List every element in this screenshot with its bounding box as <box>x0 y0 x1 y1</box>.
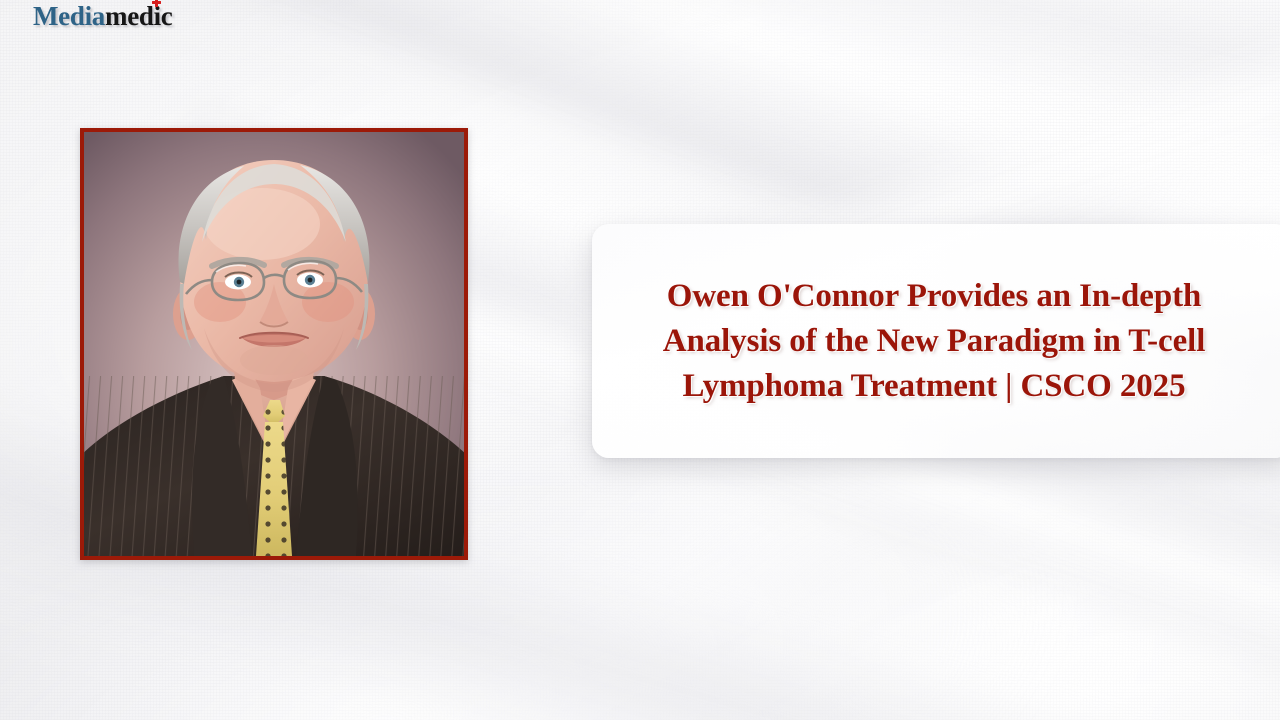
title-line-1: Owen O'Connor Provides an In-depth <box>614 274 1254 319</box>
brand-logo-medic-text: medic <box>105 1 172 31</box>
title-line-2: Analysis of the New Paradigm in T-cell <box>614 319 1254 364</box>
slide-canvas: Mediamedic <box>0 0 1280 720</box>
speaker-portrait-photo <box>80 128 468 560</box>
brand-logo-media-text: Media <box>33 1 105 31</box>
title-line-3: Lymphoma Treatment | CSCO 2025 <box>614 364 1254 409</box>
red-medical-cross-icon <box>152 0 161 7</box>
brand-logo[interactable]: Mediamedic <box>33 1 172 32</box>
page-title: Owen O'Connor Provides an In-depth Analy… <box>614 274 1254 409</box>
title-card: Owen O'Connor Provides an In-depth Analy… <box>592 224 1280 458</box>
portrait-illustration <box>84 132 464 556</box>
brand-logo-medic-label: medic <box>105 1 172 31</box>
